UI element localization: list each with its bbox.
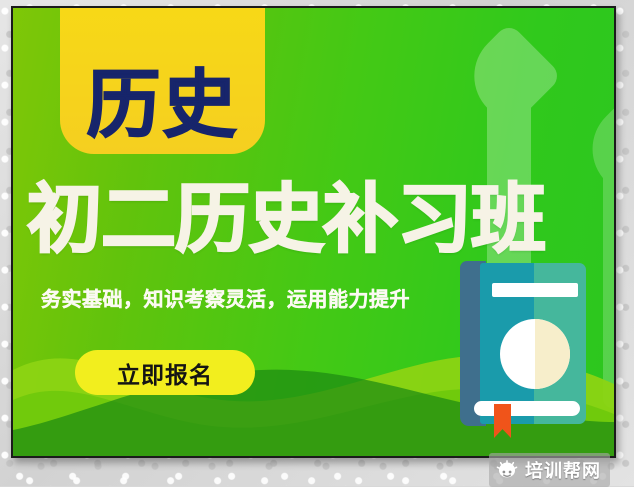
book-circle-emblem xyxy=(500,319,570,389)
watermark-text: 培训帮网 xyxy=(525,457,601,483)
enroll-now-button-label: 立即报名 xyxy=(117,356,213,390)
book-circle-emblem-right-half xyxy=(535,319,570,389)
subject-badge: 历史 xyxy=(60,6,265,154)
promo-banner: 历史 初二历史补习班 务实基础，知识考察灵活，运用能力提升 立即报名 xyxy=(11,6,616,458)
page-title: 初二历史补习班 xyxy=(27,176,616,262)
book-band-bottom xyxy=(474,401,580,416)
enroll-now-button[interactable]: 立即报名 xyxy=(75,350,255,395)
smiley-sun-icon xyxy=(496,460,518,480)
subject-badge-label: 历史 xyxy=(87,68,239,142)
watermark: 培训帮网 xyxy=(489,453,610,487)
banner-subtitle: 务实基础，知识考察灵活，运用能力提升 xyxy=(41,289,410,309)
book-icon xyxy=(460,261,588,426)
book-band-top xyxy=(492,283,578,297)
